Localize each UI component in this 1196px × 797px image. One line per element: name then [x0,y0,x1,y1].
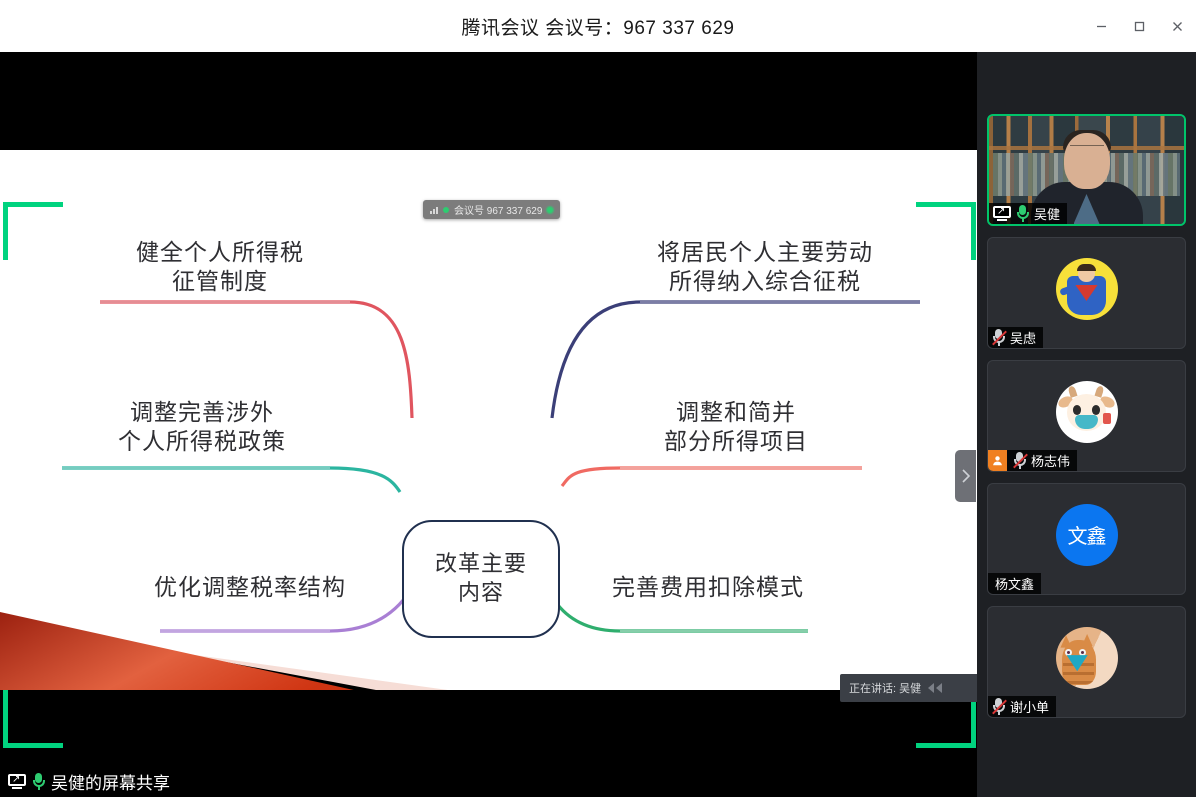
text-avatar: 文鑫 [1056,504,1118,566]
participant-name: 吴健 [1034,204,1060,223]
share-corner-top-left [3,202,8,260]
participant-name: 吴虑 [1010,328,1036,347]
participant-name: 杨志伟 [1031,451,1070,470]
participant-badge-row: 谢小单 [988,696,1056,717]
collapse-panel-button[interactable] [955,450,976,502]
share-corner-top-right [916,202,976,207]
participants-rail: ↗ 吴健 吴虑 [977,52,1196,797]
mindmap-node-bottom-right: 完善费用扣除模式 [568,573,848,602]
share-status-bar: ↗ 吴健的屏幕共享 [0,765,977,797]
mindmap-node-mid-left: 调整完善涉外 个人所得税政策 [62,398,342,457]
participant-tile[interactable]: 杨志伟 [987,360,1186,472]
participant-tile[interactable]: 文鑫 杨文鑫 [987,483,1186,595]
mindmap-node-top-right: 将居民个人主要劳动 所得纳入综合征税 [625,238,905,297]
participant-tile[interactable]: 吴虑 [987,237,1186,349]
mindmap-node-top-left: 健全个人所得税 征管制度 [80,238,360,297]
microphone-icon [1016,205,1029,222]
window-controls [1082,0,1196,52]
window-title: 腾讯会议 会议号：967 337 629 [462,13,735,40]
share-corner-top-right [971,202,976,260]
speaking-toast: 正在讲话: 吴健 [840,674,977,702]
cat-avatar [1056,627,1118,689]
share-corner-top-left [3,202,63,207]
signal-bars-icon [430,206,438,214]
shared-slide: 健全个人所得税 征管制度 将居民个人主要劳动 所得纳入综合征税 调整完善涉外 个… [0,150,977,700]
microphone-muted-icon [1013,452,1026,469]
microphone-muted-icon [992,698,1005,715]
status-dot-icon [547,207,553,213]
maximize-icon [1133,20,1146,33]
goat-avatar [1056,381,1118,443]
mind-map: 健全个人所得税 征管制度 将居民个人主要劳动 所得纳入综合征税 调整完善涉外 个… [0,150,977,700]
close-button[interactable] [1158,0,1196,52]
minimize-button[interactable] [1082,0,1120,52]
share-owner-label: 吴健的屏幕共享 [51,769,170,794]
participant-badge-row: ↗ 吴健 [989,203,1067,224]
screen-share-icon: ↗ [993,206,1011,221]
mindmap-node-bottom-left: 优化调整税率结构 [110,573,390,602]
title-bar: 腾讯会议 会议号：967 337 629 [0,0,1196,52]
microphone-muted-icon [992,329,1005,346]
participant-name: 杨文鑫 [995,574,1034,593]
participant-tile[interactable]: ↗ 吴健 [987,114,1186,226]
maximize-button[interactable] [1120,0,1158,52]
participant-badge-row: 杨志伟 [988,450,1077,471]
screen-share-icon: ↗ [8,774,26,789]
participant-name: 谢小单 [1010,697,1049,716]
participant-badge-row: 吴虑 [988,327,1043,348]
mindmap-node-mid-right: 调整和简并 部分所得项目 [596,398,876,457]
tencent-meeting-window: 腾讯会议 会议号：967 337 629 会议号 967 337 6 [0,0,1196,797]
speaking-toast-label: 正在讲话: 吴健 [849,680,921,696]
recording-dot-icon [443,207,449,213]
participant-badge-row: 杨文鑫 [988,573,1041,594]
share-pill-label: 会议号 967 337 629 [454,202,542,217]
shared-screen-stage[interactable]: 会议号 967 337 629 [0,52,977,765]
close-icon [1171,20,1184,33]
share-meeting-id-pill[interactable]: 会议号 967 337 629 [423,200,560,219]
chevron-right-icon [961,468,971,484]
share-corner-bottom-left [3,690,8,748]
microphone-icon [32,773,45,790]
participant-tile[interactable]: 谢小单 [987,606,1186,718]
mindmap-center-node: 改革主要 内容 [402,520,560,638]
minimize-icon [1095,20,1108,33]
audio-wave-icon [928,683,942,693]
superman-avatar [1056,258,1118,320]
share-corner-bottom-left [3,743,63,748]
share-corner-bottom-right [916,743,976,748]
host-badge-icon [988,450,1007,471]
